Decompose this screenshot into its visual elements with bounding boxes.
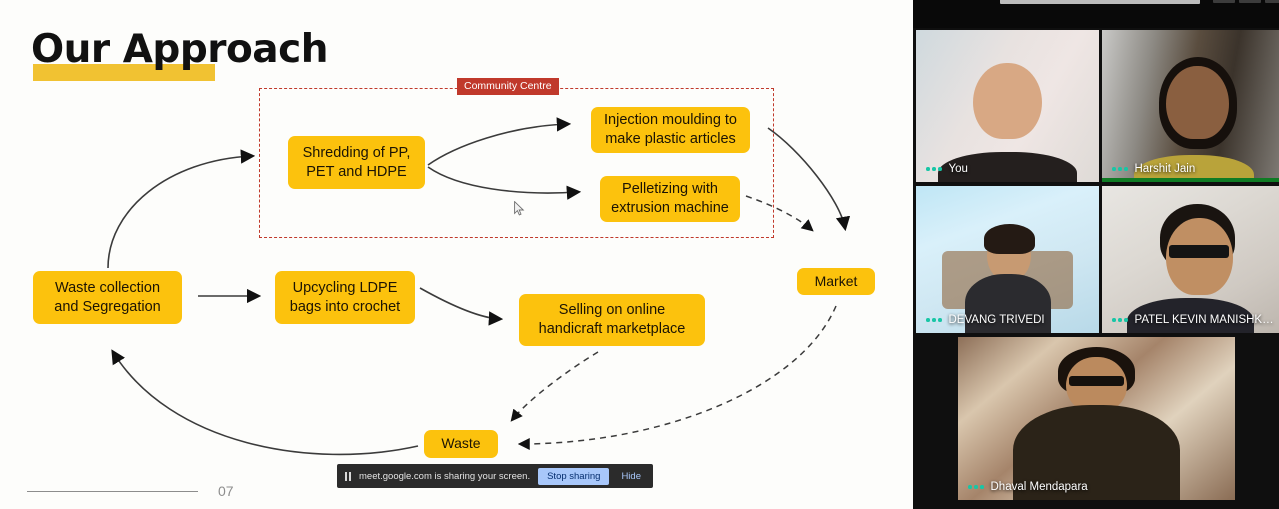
participant-name-row: DEVANG TRIVEDI: [926, 314, 1045, 326]
pause-icon: [345, 472, 351, 481]
node-shredding[interactable]: Shredding of PP, PET and HDPE: [288, 136, 425, 189]
page-number: 07: [218, 483, 234, 499]
screen-share-meeting-view: Our Approach Community Centre: [0, 0, 1279, 509]
participant-tile-dhaval-mendapara[interactable]: Dhaval Mendapara: [958, 337, 1235, 500]
node-waste[interactable]: Waste: [424, 430, 498, 458]
node-market[interactable]: Market: [797, 268, 875, 295]
video-feed: [958, 337, 1235, 500]
window-maximize-ghost: [1239, 0, 1261, 3]
hide-button[interactable]: Hide: [617, 471, 645, 482]
active-speaker-border: [1102, 178, 1279, 182]
node-waste-collection[interactable]: Waste collection and Segregation: [33, 271, 182, 324]
participant-tile-devang-trivedi[interactable]: DEVANG TRIVEDI: [916, 186, 1099, 333]
mouse-cursor-icon: [514, 201, 525, 216]
participant-tile-harshit-jain[interactable]: Harshit Jain: [1102, 30, 1279, 182]
window-close-ghost: [1265, 0, 1279, 3]
slide-title-block: Our Approach: [31, 30, 328, 69]
participant-name: PATEL KEVIN MANISHK…: [1135, 314, 1274, 326]
node-pelletizing[interactable]: Pelletizing with extrusion machine: [600, 176, 740, 222]
participant-name-row: You: [926, 163, 968, 175]
panel-top-chrome: [913, 0, 1279, 28]
node-injection-moulding[interactable]: Injection moulding to make plastic artic…: [591, 107, 750, 153]
participant-name-row: PATEL KEVIN MANISHK…: [1112, 314, 1274, 326]
meet-participants-panel: You Harshit Jain D: [913, 0, 1279, 509]
participant-name: DEVANG TRIVEDI: [949, 314, 1045, 326]
video-feed: [916, 186, 1099, 333]
community-centre-label: Community Centre: [457, 78, 559, 95]
screen-share-toast: meet.google.com is sharing your screen. …: [337, 464, 653, 488]
participant-tile-patel-kevin[interactable]: PATEL KEVIN MANISHK…: [1102, 186, 1279, 333]
video-feed: [1102, 30, 1279, 182]
mic-activity-dots-icon: [1112, 318, 1128, 322]
window-minimize-ghost: [1213, 0, 1235, 3]
participant-name-row: Harshit Jain: [1112, 163, 1195, 175]
mic-activity-dots-icon: [926, 167, 942, 171]
mic-activity-dots-icon: [1112, 167, 1128, 171]
node-upcycling[interactable]: Upcycling LDPE bags into crochet: [275, 271, 415, 324]
shared-presentation-slide: Our Approach Community Centre: [0, 0, 913, 509]
participant-tile-you[interactable]: You: [916, 30, 1099, 182]
participant-name: You: [949, 163, 968, 175]
page-title: Our Approach: [31, 30, 328, 69]
footer-rule: [27, 491, 198, 492]
mic-activity-dots-icon: [926, 318, 942, 322]
participant-name: Dhaval Mendapara: [991, 481, 1088, 493]
video-feed: [1102, 186, 1279, 333]
video-feed: [916, 30, 1099, 182]
share-message: meet.google.com is sharing your screen.: [359, 471, 530, 482]
background-window-edge: [1000, 0, 1200, 4]
mic-activity-dots-icon: [968, 485, 984, 489]
node-selling-online[interactable]: Selling on online handicraft marketplace: [519, 294, 705, 346]
participant-name-row: Dhaval Mendapara: [968, 481, 1088, 493]
stop-sharing-button[interactable]: Stop sharing: [538, 468, 609, 485]
participant-name: Harshit Jain: [1135, 163, 1196, 175]
